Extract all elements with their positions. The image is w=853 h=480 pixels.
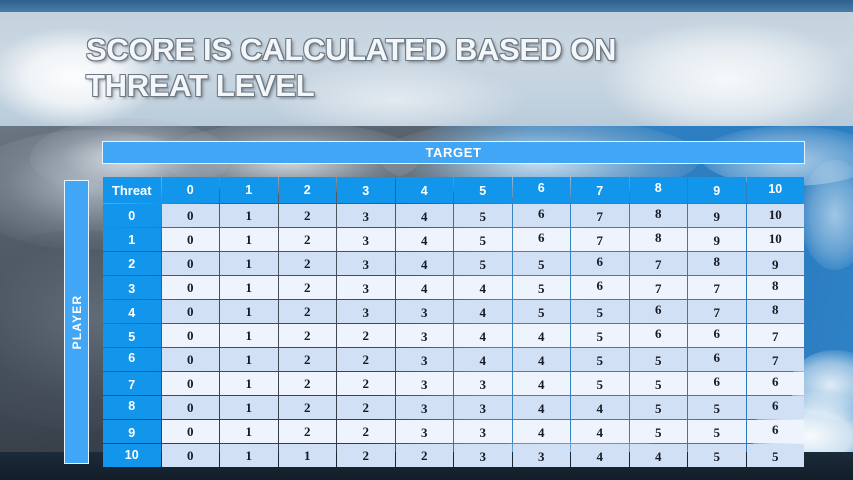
score-value: 5 (597, 329, 604, 344)
table-header-row: Threat 012345678910 (103, 177, 804, 203)
score-cell: 4 (513, 420, 571, 443)
score-value: 6 (714, 374, 721, 389)
score-cell: 6 (688, 348, 746, 371)
score-cell: 3 (337, 228, 395, 251)
row-label-player-3: 3 (103, 276, 161, 299)
score-value: 5 (655, 353, 662, 368)
header-cell-value: 6 (538, 181, 545, 195)
score-cell: 4 (454, 276, 512, 299)
score-cell: 2 (279, 324, 337, 347)
score-value: 1 (246, 328, 253, 343)
score-cell: 3 (396, 420, 454, 443)
score-value: 5 (655, 401, 662, 416)
score-value: 3 (480, 401, 487, 416)
score-value: 2 (363, 376, 370, 391)
header-cell-value: 10 (768, 182, 782, 196)
score-cell: 3 (337, 276, 395, 299)
score-value: 6 (772, 374, 779, 389)
score-value: 2 (304, 280, 311, 295)
score-value: 10 (769, 231, 782, 246)
score-cell: 1 (220, 204, 278, 227)
header-cell-value: 9 (713, 184, 720, 198)
score-cell: 4 (571, 420, 629, 443)
score-value: 3 (480, 425, 487, 440)
score-cell: 2 (337, 444, 395, 467)
score-cell: 0 (162, 372, 220, 395)
row-label-player-5: 5 (103, 324, 161, 347)
row-label-value: 9 (128, 426, 135, 440)
score-cell: 6 (747, 396, 805, 419)
score-cell: 5 (688, 420, 746, 443)
score-value: 4 (421, 233, 428, 248)
score-cell: 7 (747, 324, 805, 347)
score-value: 7 (655, 257, 662, 272)
row-label-value: 2 (128, 257, 135, 271)
header-cell-target-1: 1 (220, 177, 278, 203)
score-cell: 4 (571, 444, 629, 467)
score-cell: 7 (747, 348, 805, 371)
score-cell: 1 (220, 324, 278, 347)
row-label-player-8: 8 (103, 396, 161, 419)
row-label-value: 3 (128, 282, 135, 296)
score-value: 5 (538, 257, 545, 272)
score-cell: 5 (454, 252, 512, 275)
score-cell: 5 (630, 396, 688, 419)
score-value: 5 (655, 425, 662, 440)
score-cell: 5 (630, 372, 688, 395)
score-value: 7 (655, 281, 662, 296)
score-value: 4 (480, 281, 487, 296)
score-cell: 2 (279, 372, 337, 395)
row-label-player-6: 6 (103, 348, 161, 371)
score-cell: 7 (630, 252, 688, 275)
header-cell-target-5: 5 (454, 177, 512, 203)
score-cell: 4 (513, 396, 571, 419)
score-value: 9 (772, 257, 779, 272)
score-cell: 9 (688, 228, 746, 251)
score-cell: 5 (571, 324, 629, 347)
score-cell: 2 (337, 348, 395, 371)
table-row: 701223345566 (103, 372, 804, 395)
score-value: 1 (246, 352, 253, 367)
score-cell: 8 (747, 300, 805, 323)
score-matrix-table: Threat 012345678910 00123456789101012345… (102, 176, 805, 468)
table-row: 301234456778 (103, 276, 804, 299)
score-value: 3 (421, 305, 428, 320)
score-value: 0 (187, 424, 194, 439)
score-cell: 7 (688, 300, 746, 323)
row-label-player-4: 4 (103, 300, 161, 323)
score-value: 1 (246, 400, 253, 415)
score-value: 4 (655, 449, 662, 464)
table-row: 401233455678 (103, 300, 804, 323)
row-label-player-1: 1 (103, 228, 161, 251)
score-value: 10 (769, 207, 782, 222)
header-cell-target-10: 10 (747, 177, 805, 203)
score-cell: 1 (220, 420, 278, 443)
score-value: 7 (714, 281, 721, 296)
score-cell: 1 (220, 348, 278, 371)
score-value: 1 (246, 232, 253, 247)
row-label-player-9: 9 (103, 420, 161, 443)
score-cell: 5 (454, 228, 512, 251)
score-value: 2 (304, 208, 311, 223)
header-cell-target-0: 0 (162, 177, 220, 203)
score-value: 5 (597, 305, 604, 320)
score-value: 5 (480, 257, 487, 272)
score-cell: 0 (162, 252, 220, 275)
score-cell: 5 (454, 204, 512, 227)
score-cell: 6 (513, 228, 571, 251)
score-value: 5 (655, 377, 662, 392)
score-cell: 5 (630, 420, 688, 443)
score-cell: 0 (162, 228, 220, 251)
score-value: 6 (655, 302, 662, 317)
score-value: 4 (597, 425, 604, 440)
header-cell-target-4: 4 (396, 177, 454, 203)
target-axis-label: TARGET (425, 145, 481, 160)
score-cell: 1 (220, 252, 278, 275)
score-value: 1 (246, 304, 253, 319)
score-cell: 2 (279, 204, 337, 227)
score-cell: 3 (337, 300, 395, 323)
score-value: 6 (538, 230, 545, 245)
score-cell: 9 (688, 204, 746, 227)
target-axis-bar: TARGET (102, 141, 805, 164)
score-value: 6 (714, 350, 721, 365)
score-value: 3 (363, 305, 370, 320)
score-value: 0 (187, 256, 194, 271)
score-value: 4 (538, 401, 545, 416)
score-cell: 6 (747, 420, 805, 443)
score-value: 2 (363, 352, 370, 367)
table-row: 901223344556 (103, 420, 804, 443)
score-cell: 4 (513, 372, 571, 395)
score-value: 0 (187, 232, 194, 247)
header-cell-target-2: 2 (279, 177, 337, 203)
score-value: 4 (597, 401, 604, 416)
score-value: 6 (597, 278, 604, 293)
header-cell-value: 7 (596, 184, 603, 198)
score-cell: 9 (747, 252, 805, 275)
score-value: 8 (772, 278, 779, 293)
player-axis-label: PLAYER (70, 295, 84, 350)
score-cell: 6 (630, 324, 688, 347)
score-cell: 2 (337, 372, 395, 395)
table-row: 801223344556 (103, 396, 804, 419)
score-value: 4 (480, 329, 487, 344)
score-cell: 0 (162, 300, 220, 323)
score-cell: 3 (454, 372, 512, 395)
score-cell: 5 (571, 348, 629, 371)
score-cell: 2 (337, 420, 395, 443)
score-cell: 2 (279, 276, 337, 299)
score-cell: 10 (747, 228, 805, 251)
score-cell: 0 (162, 444, 220, 467)
score-value: 3 (363, 257, 370, 272)
score-value: 8 (714, 254, 721, 269)
score-value: 3 (538, 449, 545, 464)
score-cell: 4 (571, 396, 629, 419)
header-cell-value: 1 (245, 183, 252, 197)
score-value: 2 (363, 424, 370, 439)
score-cell: 2 (279, 396, 337, 419)
score-value: 2 (363, 400, 370, 415)
score-cell: 0 (162, 348, 220, 371)
score-value: 3 (363, 281, 370, 296)
score-cell: 4 (630, 444, 688, 467)
score-value: 4 (538, 377, 545, 392)
score-value: 0 (187, 448, 194, 463)
score-value: 0 (187, 376, 194, 391)
row-label-player-2: 2 (103, 252, 161, 275)
score-value: 4 (538, 425, 545, 440)
score-value: 5 (480, 209, 487, 224)
score-cell: 2 (337, 396, 395, 419)
score-value: 2 (304, 400, 311, 415)
score-cell: 7 (571, 228, 629, 251)
score-value: 3 (363, 233, 370, 248)
score-value: 5 (597, 353, 604, 368)
score-cell: 0 (162, 324, 220, 347)
score-value: 7 (714, 305, 721, 320)
score-value: 4 (421, 257, 428, 272)
score-value: 3 (421, 401, 428, 416)
score-cell: 6 (571, 252, 629, 275)
row-label-player-7: 7 (103, 372, 161, 395)
row-label-value: 4 (128, 306, 135, 320)
score-value: 1 (246, 376, 253, 391)
score-cell: 2 (396, 444, 454, 467)
score-value: 8 (655, 230, 662, 245)
score-value: 4 (480, 353, 487, 368)
score-cell: 4 (396, 204, 454, 227)
score-cell: 8 (630, 204, 688, 227)
score-cell: 4 (454, 324, 512, 347)
score-cell: 5 (571, 372, 629, 395)
score-value: 5 (480, 233, 487, 248)
score-cell: 0 (162, 204, 220, 227)
score-cell: 2 (279, 348, 337, 371)
score-value: 5 (538, 281, 545, 296)
score-value: 0 (187, 400, 194, 415)
score-cell: 1 (220, 396, 278, 419)
player-axis-bar: PLAYER (64, 180, 89, 464)
score-value: 8 (772, 302, 779, 317)
score-value: 2 (363, 448, 370, 463)
score-value: 0 (187, 352, 194, 367)
score-value: 0 (187, 280, 194, 295)
score-value: 0 (187, 208, 194, 223)
score-cell: 5 (688, 444, 746, 467)
table-body: 0012345678910101234567891020123455678930… (103, 204, 804, 467)
score-cell: 3 (337, 204, 395, 227)
score-cell: 1 (279, 444, 337, 467)
score-value: 3 (363, 209, 370, 224)
score-value: 1 (246, 448, 253, 463)
score-cell: 7 (688, 276, 746, 299)
score-cell: 0 (162, 396, 220, 419)
score-value: 1 (246, 256, 253, 271)
score-value: 0 (187, 328, 194, 343)
row-label-value: 8 (128, 399, 135, 413)
score-cell: 4 (396, 228, 454, 251)
score-value: 3 (421, 329, 428, 344)
score-cell: 3 (513, 444, 571, 467)
score-cell: 5 (688, 396, 746, 419)
header-cell-value: 5 (479, 184, 486, 198)
score-cell: 3 (396, 300, 454, 323)
header-cell-target-7: 7 (571, 177, 629, 203)
score-value: 1 (246, 280, 253, 295)
score-cell: 3 (337, 252, 395, 275)
score-value: 6 (772, 398, 779, 413)
score-cell: 6 (688, 324, 746, 347)
table-row: 201234556789 (103, 252, 804, 275)
score-value: 2 (304, 376, 311, 391)
score-value: 2 (304, 304, 311, 319)
row-label-value: 1 (128, 233, 135, 247)
score-cell: 4 (513, 348, 571, 371)
score-cell: 3 (396, 372, 454, 395)
row-label-value: 6 (128, 351, 135, 365)
score-cell: 1 (220, 444, 278, 467)
score-cell: 2 (279, 420, 337, 443)
score-cell: 5 (571, 300, 629, 323)
score-value: 2 (304, 424, 311, 439)
score-cell: 6 (630, 300, 688, 323)
score-cell: 8 (630, 228, 688, 251)
score-cell: 8 (747, 276, 805, 299)
score-cell: 4 (454, 348, 512, 371)
score-value: 1 (304, 448, 311, 463)
header-cell-value: 0 (187, 183, 194, 197)
score-value: 0 (187, 304, 194, 319)
score-cell: 8 (688, 252, 746, 275)
score-cell: 3 (396, 324, 454, 347)
header-cell-value: 8 (655, 181, 662, 195)
score-value: 4 (421, 281, 428, 296)
score-value: 3 (421, 377, 428, 392)
header-cell-target-3: 3 (337, 177, 395, 203)
row-label-value: 5 (128, 330, 135, 344)
score-cell: 2 (279, 300, 337, 323)
score-cell: 6 (747, 372, 805, 395)
score-cell: 3 (396, 348, 454, 371)
score-cell: 7 (571, 204, 629, 227)
score-value: 6 (714, 326, 721, 341)
score-value: 7 (772, 329, 779, 344)
score-value: 5 (714, 425, 721, 440)
header-cell-target-6: 6 (513, 177, 571, 203)
score-cell: 6 (571, 276, 629, 299)
score-cell: 2 (337, 324, 395, 347)
score-value: 4 (480, 305, 487, 320)
score-value: 5 (772, 449, 779, 464)
score-cell: 4 (513, 324, 571, 347)
score-value: 2 (304, 256, 311, 271)
score-cell: 6 (688, 372, 746, 395)
score-value: 6 (597, 254, 604, 269)
score-value: 2 (304, 328, 311, 343)
score-value: 2 (421, 448, 428, 463)
score-value: 3 (480, 377, 487, 392)
score-value: 1 (246, 424, 253, 439)
score-value: 3 (421, 353, 428, 368)
score-cell: 0 (162, 420, 220, 443)
row-label-player-10: 10 (103, 444, 161, 467)
score-value: 6 (655, 326, 662, 341)
score-value: 4 (421, 209, 428, 224)
score-value: 9 (714, 233, 721, 248)
score-value: 9 (714, 209, 721, 224)
header-cell-target-9: 9 (688, 177, 746, 203)
score-value: 3 (421, 425, 428, 440)
row-label-value: 7 (128, 378, 135, 392)
score-cell: 4 (396, 252, 454, 275)
score-value: 8 (655, 206, 662, 221)
score-cell: 5 (747, 444, 805, 467)
score-value: 7 (597, 209, 604, 224)
row-label-player-0: 0 (103, 204, 161, 227)
score-cell: 5 (513, 252, 571, 275)
score-cell: 3 (454, 420, 512, 443)
score-value: 2 (363, 328, 370, 343)
score-cell: 3 (454, 444, 512, 467)
score-cell: 4 (454, 300, 512, 323)
score-cell: 1 (220, 276, 278, 299)
score-cell: 3 (454, 396, 512, 419)
score-cell: 4 (396, 276, 454, 299)
score-value: 4 (538, 329, 545, 344)
score-cell: 5 (630, 348, 688, 371)
score-cell: 6 (513, 204, 571, 227)
score-value: 5 (597, 377, 604, 392)
score-cell: 5 (513, 300, 571, 323)
score-cell: 5 (513, 276, 571, 299)
score-cell: 2 (279, 252, 337, 275)
header-cell-threat: Threat (103, 177, 161, 203)
score-cell: 1 (220, 228, 278, 251)
table-row: 1012345678910 (103, 228, 804, 251)
slide-title: SCORE IS CALCULATED BASED ON THREAT LEVE… (86, 32, 726, 104)
score-cell: 10 (747, 204, 805, 227)
score-value: 5 (714, 401, 721, 416)
score-value: 5 (538, 305, 545, 320)
score-value: 3 (480, 449, 487, 464)
row-label-value: 10 (125, 448, 139, 462)
score-cell: 1 (220, 372, 278, 395)
table-row: 1001122334455 (103, 444, 804, 467)
score-cell: 2 (279, 228, 337, 251)
score-value: 5 (714, 449, 721, 464)
score-cell: 3 (396, 396, 454, 419)
score-value: 2 (304, 352, 311, 367)
score-value: 4 (597, 449, 604, 464)
table-row: 501223445667 (103, 324, 804, 347)
header-cell-target-8: 8 (630, 177, 688, 203)
row-label-value: 0 (128, 209, 135, 223)
header-cell-value: 3 (362, 184, 369, 198)
score-value: 2 (304, 232, 311, 247)
score-value: 6 (538, 206, 545, 221)
score-value: 7 (597, 233, 604, 248)
score-cell: 1 (220, 300, 278, 323)
score-value: 1 (246, 208, 253, 223)
header-cell-value: 2 (304, 183, 311, 197)
header-cell-value: 4 (421, 184, 428, 198)
table-row: 601223445567 (103, 348, 804, 371)
